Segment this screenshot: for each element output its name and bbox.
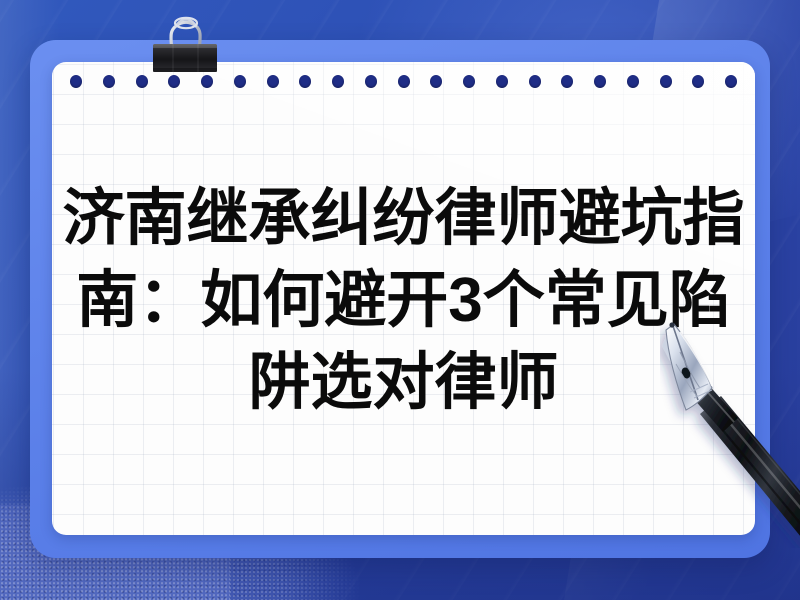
punch-dot (299, 75, 311, 88)
punch-dot (332, 75, 344, 88)
punch-dot (594, 75, 606, 88)
poster-title: 济南继承纠纷律师避坑指 南：如何避开3个常见陷 阱选对律师 (52, 178, 755, 424)
punch-dot (660, 75, 672, 88)
punch-dot (627, 75, 639, 88)
punch-dot (463, 75, 475, 88)
title-line-1: 济南继承纠纷律师避坑指 (52, 178, 755, 260)
title-line-2: 南：如何避开3个常见陷 (52, 260, 755, 342)
punch-dot (365, 75, 377, 88)
punch-dot (168, 75, 180, 88)
punch-dot (496, 75, 508, 88)
punch-dot (201, 75, 213, 88)
punch-dot (267, 75, 279, 88)
punch-dot (692, 75, 704, 88)
punch-dot (103, 75, 115, 88)
punch-dot (136, 75, 148, 88)
punch-dot (234, 75, 246, 88)
punch-dot (561, 75, 573, 88)
title-line-3: 阱选对律师 (52, 342, 755, 424)
punch-dot (430, 75, 442, 88)
binder-clip-icon (152, 14, 218, 76)
poster-canvas: 济南继承纠纷律师避坑指 南：如何避开3个常见陷 阱选对律师 (0, 0, 800, 600)
punch-dot (70, 75, 82, 88)
punch-dot (529, 75, 541, 88)
punch-dot (398, 75, 410, 88)
punch-dot (725, 75, 737, 88)
